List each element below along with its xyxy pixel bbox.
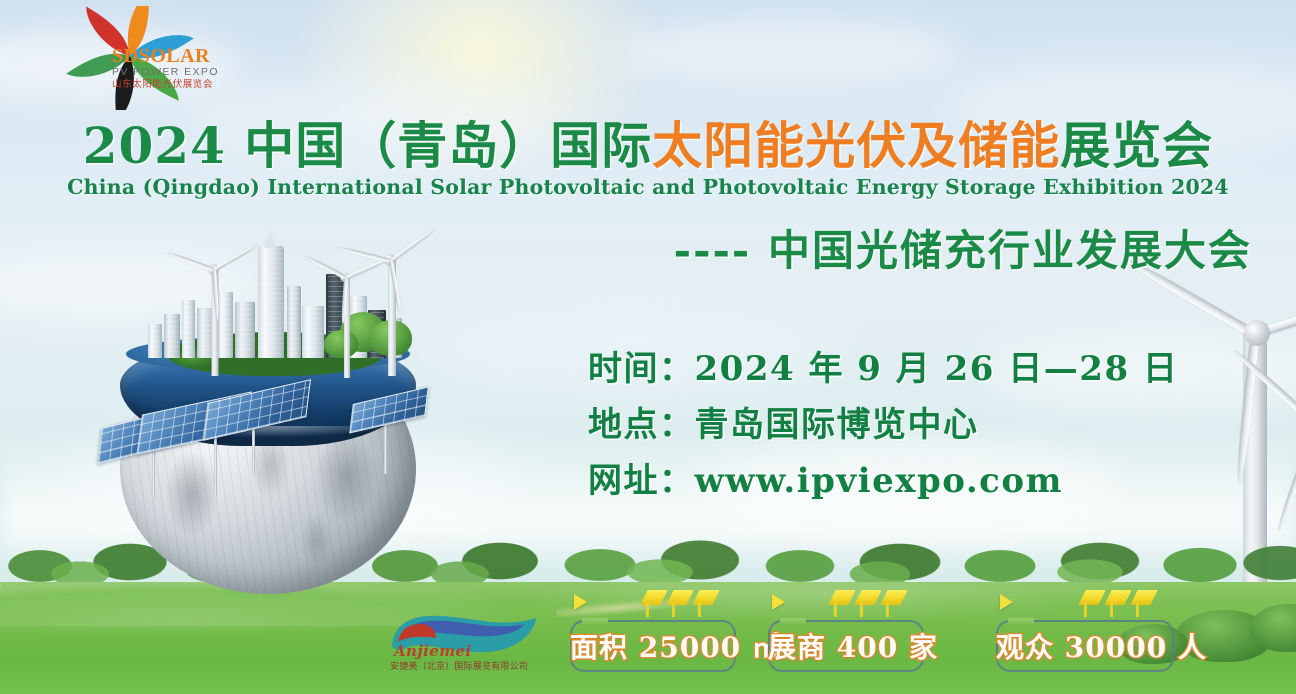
stat-label: 展商 400 家 bbox=[768, 626, 924, 666]
panel-leg bbox=[384, 422, 387, 474]
info-value-website[interactable]: www.ipviexpo.com bbox=[695, 461, 1064, 501]
headline-english: China (Qingdao) International Solar Phot… bbox=[0, 174, 1296, 200]
anjiemei-wordmark: Anjiemei bbox=[394, 642, 472, 660]
info-value-venue: 青岛国际博览中心 bbox=[695, 405, 979, 445]
earth-globe-illustration bbox=[112, 232, 432, 592]
sdsolar-chinese-name: 山东太阳能光伏展览会 bbox=[112, 79, 230, 91]
headline-chinese-part3: 展览会 bbox=[1060, 116, 1213, 175]
stat-visitors[interactable]: 观众 30000 人 bbox=[996, 620, 1174, 672]
anjiemei-logo[interactable]: Anjiemei 安捷美（北京）国际展览有限公司 bbox=[386, 612, 542, 678]
solar-panel-icon bbox=[880, 590, 907, 605]
headline-chinese-part2: 太阳能光伏及储能 bbox=[652, 116, 1060, 175]
solar-panel-icon bbox=[692, 590, 719, 605]
sdsolar-logo-text: SDSOLAR PV POWER EXPO 山东太阳能光伏展览会 bbox=[112, 46, 230, 91]
stat-exhibitors[interactable]: 展商 400 家 bbox=[768, 620, 924, 672]
cloud-3 bbox=[620, 20, 960, 84]
solar-panel-icon-group bbox=[1082, 590, 1166, 622]
solar-panel-icon bbox=[1078, 590, 1105, 605]
arrow-marker-icon bbox=[574, 594, 587, 610]
solar-panel-icon bbox=[1104, 590, 1131, 605]
arrow-marker-icon bbox=[1000, 594, 1013, 610]
info-value-date: 2024 年 9 月 26 日—28 日 bbox=[695, 349, 1179, 389]
solar-panel-icon bbox=[640, 590, 667, 605]
event-info-block: 时间：2024 年 9 月 26 日—28 日 地点：青岛国际博览中心 网址：w… bbox=[588, 344, 1178, 512]
solar-panel-icon bbox=[1130, 590, 1157, 605]
sdsolar-logo[interactable]: SDSOLAR PV POWER EXPO 山东太阳能光伏展览会 bbox=[64, 6, 224, 110]
turbine-hub bbox=[1244, 320, 1270, 346]
sdsolar-tagline: PV POWER EXPO bbox=[112, 66, 230, 79]
stat-area[interactable]: 面积 25000 ㎡ bbox=[570, 620, 736, 672]
sdsolar-wordmark: SDSOLAR bbox=[112, 46, 230, 66]
info-row-website: 网址：www.ipviexpo.com bbox=[588, 456, 1178, 506]
anjiemei-chinese-name: 安捷美（北京）国际展览有限公司 bbox=[390, 659, 528, 672]
info-label-venue: 地点： bbox=[588, 405, 695, 445]
exhibition-poster: SDSOLAR PV POWER EXPO 山东太阳能光伏展览会 2024 中国… bbox=[0, 0, 1296, 694]
solar-panel-icon bbox=[828, 590, 855, 605]
headline-block: 2024 中国（青岛）国际太阳能光伏及储能展览会 China (Qingdao)… bbox=[0, 118, 1296, 200]
building bbox=[148, 324, 162, 358]
stat-label: 观众 30000 人 bbox=[996, 626, 1174, 666]
headline-subline: ---- 中国光储充行业发展大会 bbox=[0, 226, 1296, 276]
headline-chinese: 2024 中国（青岛）国际太阳能光伏及储能展览会 bbox=[0, 118, 1296, 174]
info-label-date: 时间： bbox=[588, 349, 695, 389]
stat-label: 面积 25000 ㎡ bbox=[570, 626, 736, 666]
info-label-website: 网址： bbox=[588, 461, 695, 501]
solar-panel-icon-group bbox=[832, 590, 916, 622]
info-row-venue: 地点：青岛国际博览中心 bbox=[588, 400, 1178, 450]
turbine-blade bbox=[1275, 424, 1296, 532]
panel-leg bbox=[252, 424, 255, 474]
solar-panel-icon bbox=[854, 590, 881, 605]
info-row-date: 时间：2024 年 9 月 26 日—28 日 bbox=[588, 344, 1178, 394]
solar-panel-icon bbox=[666, 590, 693, 605]
building bbox=[287, 286, 301, 358]
arrow-marker-icon bbox=[772, 594, 785, 610]
headline-chinese-part1: 2024 中国（青岛）国际 bbox=[83, 116, 653, 175]
solar-panel-icon-group bbox=[644, 590, 728, 622]
